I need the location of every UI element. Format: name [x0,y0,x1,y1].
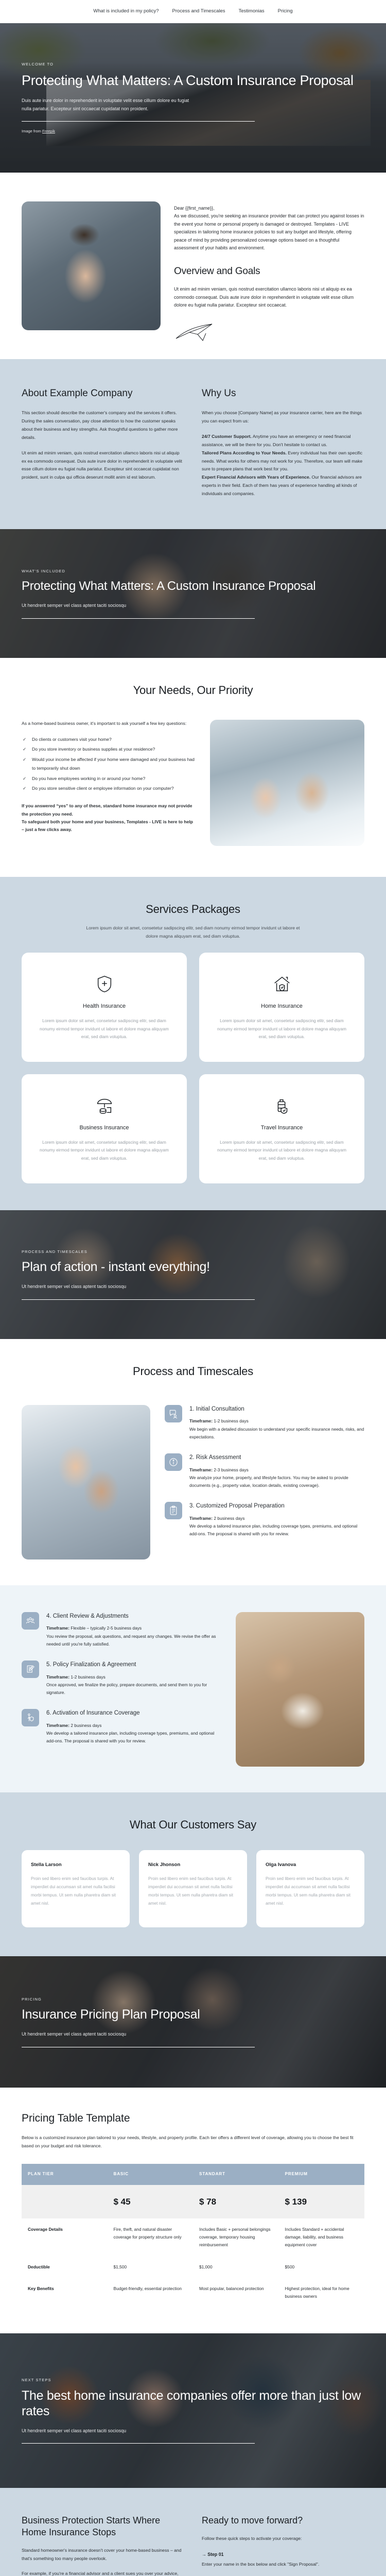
process-step: 3. Customized Proposal Preparation Timef… [165,1502,364,1538]
pricing-table: PLAN TIER BASIC STANDART PREMIUM $ 45 $ … [22,2164,364,2308]
process-step-body: We develop a tailored insurance plan, in… [189,1522,364,1538]
needs-section: Your Needs, Our Priority As a home-based… [0,658,386,877]
credit-prefix: Image from [22,129,42,133]
hero-subtitle: Ut hendrerit semper vel class aptent tac… [22,2427,191,2435]
timeframe-label: Timeframe: [189,1467,213,1472]
clipboard-icon [165,1502,182,1519]
process-step-body: You review the proposal, ask questions, … [46,1633,221,1648]
needs-question-list: Do clients or customers visit your home?… [22,735,195,793]
why-us-intro: When you choose [Company Name] as your i… [202,409,364,426]
hero-banner-next-steps: NEXT STEPS The best home insurance compa… [0,2333,386,2488]
hero-divider [22,2047,255,2047]
process-step-title: 1. Initial Consultation [189,1405,364,1414]
testimonials-section: What Our Customers Say Stella Larson Pro… [0,1792,386,1956]
why-us-point: 24/7 Customer Support. Anytime you have … [202,433,364,449]
why-us-column: Why Us When you choose [Company Name] as… [202,386,364,498]
process-step: 2. Risk Assessment Timeframe: 2-3 busine… [165,1453,364,1489]
timeframe-value: 1-2 business days [213,1418,249,1423]
timeframe-value: 2 business days [213,1516,244,1521]
ready-forward-title: Ready to move forward? [202,2515,364,2527]
hero-subtitle: Ut hendrerit semper vel class aptent tac… [22,2030,191,2039]
table-row: Deductible $1,500 $1,000 $500 [22,2256,364,2278]
testimonial-card: Nick Jhonson Proin sed libero enim sed f… [139,1850,247,1927]
table-row: Key Benefits Budget-friendly, essential … [22,2278,364,2307]
nav-item-process[interactable]: Process and Timescales [172,8,225,15]
process-step: 4. Client Review & Adjustments Timeframe… [22,1612,221,1648]
list-item: Would your income be affected if your ho… [22,755,195,773]
business-protection-p2: For example, if you're a financial advis… [22,2570,184,2576]
next-step-text: Enter your name in the box below and cli… [202,2561,364,2569]
cell: $1,000 [193,2256,279,2278]
hero-banner: WELCOME TO Protecting What Matters: A Cu… [0,23,386,173]
list-item: Do you store sensitive client or employe… [22,784,195,793]
timeframe-label: Timeframe: [189,1418,213,1423]
timeframe-value: Flexible – typically 2-5 business days [69,1625,142,1631]
hero-divider [22,121,255,122]
price-premium: $ 139 [279,2185,365,2219]
process-step-body: We analyze your home, property, and life… [189,1474,364,1489]
why-us-point-head: Tailored Plans According to Your Needs. [202,450,287,455]
cell: $1,500 [108,2256,194,2278]
services-section: Services Packages Lorem ipsum dolor sit … [0,877,386,1210]
hero-title: The best home insurance companies offer … [22,2388,364,2419]
about-company-column: About Example Company This section shoul… [22,386,184,498]
process-step-timeframe: Timeframe: 2 business days [46,1722,221,1730]
needs-title: Your Needs, Our Priority [0,658,386,702]
testimonial-text: Proin sed libero enim sed faucibus turpi… [266,1875,355,1907]
service-card-title: Home Insurance [214,1002,350,1011]
ready-forward-column: Ready to move forward? Follow these quic… [202,2515,364,2576]
ready-forward-intro: Follow these quick steps to activate you… [202,2535,364,2543]
cell: Fire, theft, and natural disaster covera… [108,2218,194,2256]
hero-eyebrow: PRICING [22,1996,364,2003]
process-step-timeframe: Timeframe: 2 business days [189,1515,364,1522]
hero-banner-pricing: PRICING Insurance Pricing Plan Proposal … [0,1956,386,2088]
nav-item-testimonials[interactable]: Testimonias [239,8,265,15]
luggage-shield-icon [214,1092,350,1120]
testimonial-text: Proin sed libero enim sed faucibus turpi… [148,1875,238,1907]
timeframe-value: 2 business days [69,1723,101,1728]
business-protection-p1: Standard homeowner's insurance doesn't c… [22,2547,184,2563]
testimonial-card: Stella Larson Proin sed libero enim sed … [22,1850,130,1927]
process-step-body: We begin with a detailed discussion to u… [189,1426,364,1441]
hero-divider [22,1299,255,1300]
price-standard: $ 78 [193,2185,279,2219]
testimonial-name: Nick Jhonson [148,1861,238,1869]
timeframe-label: Timeframe: [46,1674,69,1680]
letter-section: Dear {{first_name}}, As we discussed, yo… [0,173,386,359]
cell: Includes Standard + accidental damage, l… [279,2218,365,2256]
process-section: Process and Timescales 1. Initial Consul… [0,1339,386,1585]
nav-item-pricing[interactable]: Pricing [278,8,293,15]
nav-item-policy[interactable]: What is included in my policy? [93,8,159,15]
about-section: About Example Company This section shoul… [0,359,386,529]
pricing-table-section: Pricing Table Template Below is a custom… [0,2088,386,2333]
process-step-body: We develop a tailored insurance plan, in… [46,1730,221,1745]
process-step: 5. Policy Finalization & Agreement Timef… [22,1660,221,1697]
hero-subtitle: Ut hendrerit semper vel class aptent tac… [22,1283,191,1291]
needs-note-2: To safeguard both your home and your bus… [22,818,195,834]
why-us-point: Expert Financial Advisors with Years of … [202,473,364,498]
process-photo-2 [236,1612,364,1767]
hero-eyebrow: WELCOME TO [22,61,364,67]
needs-note-1: If you answered “yes” to any of these, s… [22,802,195,818]
process-step-timeframe: Timeframe: Flexible – typically 2-5 busi… [46,1624,221,1632]
hero-eyebrow: NEXT STEPS [22,2377,364,2383]
services-title: Services Packages [0,877,386,921]
umbrella-coins-icon [36,1092,172,1120]
process-step: 6. Activation of Insurance Coverage Time… [22,1709,221,1745]
cell: Highest protection, ideal for home busin… [279,2278,365,2307]
letter-portrait-photo [22,201,161,330]
hero-title: Plan of action - instant everything! [22,1259,364,1275]
hero-eyebrow: PROCESS AND TIMESCALES [22,1249,364,1255]
why-us-point-head: 24/7 Customer Support. [202,434,252,439]
pricing-table-intro: Below is a customized insurance plan tai… [22,2134,364,2150]
price-basic: $ 45 [108,2185,194,2219]
why-us-title: Why Us [202,386,364,401]
service-card[interactable]: Home Insurance Lorem ipsum dolor sit ame… [199,953,364,1062]
about-company-title: About Example Company [22,386,184,401]
hero-eyebrow: WHAT'S INCLUDED [22,568,364,574]
process-step-timeframe: Timeframe: 1-2 business days [46,1673,221,1681]
testimonial-name: Olga Ivanova [266,1861,355,1869]
cell: Most popular, balanced protection [193,2278,279,2307]
table-row-prices: $ 45 $ 78 $ 139 [22,2185,364,2219]
hero-divider [22,618,255,619]
business-protection-column: Business Protection Starts Where Home In… [22,2515,184,2576]
signature-icon [22,1660,39,1678]
col-standard: STANDART [193,2164,279,2185]
hero-banner-process: PROCESS AND TIMESCALES Plan of action - … [0,1210,386,1339]
process-step-title: 4. Client Review & Adjustments [46,1612,221,1621]
about-company-p2: Ut enim ad minim veniam, quis nostrud ex… [22,449,184,482]
credit-link[interactable]: Freepik [42,129,55,133]
process-step-title: 2. Risk Assessment [189,1453,364,1463]
hero-divider [22,2443,255,2444]
list-item: Do you store inventory or business suppl… [22,745,195,754]
service-card-title: Health Insurance [36,1002,172,1011]
timeframe-label: Timeframe: [46,1723,69,1728]
service-card[interactable]: Travel Insurance Lorem ipsum dolor sit a… [199,1074,364,1183]
testimonial-text: Proin sed libero enim sed faucibus turpi… [31,1875,120,1907]
shield-health-icon [36,970,172,998]
business-protection-title: Business Protection Starts Where Home In… [22,2515,184,2539]
hero-subtitle: Ut hendrerit semper vel class aptent tac… [22,602,191,610]
table-header-row: PLAN TIER BASIC STANDART PREMIUM [22,2164,364,2185]
process-section-2: 4. Client Review & Adjustments Timeframe… [0,1585,386,1792]
hero-title: Protecting What Matters: A Custom Insura… [22,579,364,594]
letter-body-text: As we discussed, you're seeking an insur… [174,212,364,252]
service-card-desc: Lorem ipsum dolor sit amet, consetetur s… [214,1139,350,1163]
service-card[interactable]: Business Insurance Lorem ipsum dolor sit… [22,1074,187,1183]
cell: Includes Basic + personal belongings cov… [193,2218,279,2256]
service-card[interactable]: Health Insurance Lorem ipsum dolor sit a… [22,953,187,1062]
timeframe-value: 2-3 business days [213,1467,249,1472]
process-step-title: 3. Customized Proposal Preparation [189,1502,364,1511]
next-step-label: → Step 01 [202,2551,364,2558]
process-photo-1 [22,1405,150,1560]
needs-intro: As a home-based business owner, it's imp… [22,720,195,727]
hero-title: Protecting What Matters: A Custom Insura… [22,72,364,89]
col-plan-tier: PLAN TIER [22,2164,108,2185]
price-row-label [22,2185,108,2219]
house-shield-icon [214,970,350,998]
list-item: Do you have employees working in or arou… [22,774,195,783]
cell: $500 [279,2256,365,2278]
process-step-title: 5. Policy Finalization & Agreement [46,1660,221,1670]
timeframe-label: Timeframe: [46,1625,69,1631]
people-group-icon [22,1612,39,1630]
hero-banner-whats-included: WHAT'S INCLUDED Protecting What Matters:… [0,529,386,658]
consultation-icon [165,1405,182,1422]
service-card-desc: Lorem ipsum dolor sit amet, consetetur s… [214,1017,350,1041]
testimonial-card: Olga Ivanova Proin sed libero enim sed f… [256,1850,364,1927]
list-item: Do clients or customers visit your home? [22,735,195,744]
row-label: Key Benefits [22,2278,108,2307]
process-step: 1. Initial Consultation Timeframe: 1-2 b… [165,1405,364,1441]
why-us-point: Tailored Plans According to Your Needs. … [202,449,364,474]
needs-photo [210,720,364,846]
timeframe-value: 1-2 business days [69,1674,106,1680]
testimonials-title: What Our Customers Say [0,1792,386,1837]
col-basic: BASIC [108,2164,194,2185]
service-card-title: Business Insurance [36,1124,172,1132]
pricing-table-title: Pricing Table Template [22,2110,364,2127]
overview-goals-title: Overview and Goals [174,264,364,279]
col-premium: PREMIUM [279,2164,365,2185]
cell: Budget-friendly, essential protection [108,2278,194,2307]
info-assessment-icon [165,1453,182,1471]
letter-greeting: Dear {{first_name}}, [174,205,364,212]
table-row: Coverage Details Fire, theft, and natura… [22,2218,364,2256]
hero-subtitle: Duis aute irure dolor in reprehenderit i… [22,97,191,113]
row-label: Coverage Details [22,2218,108,2256]
hero-title: Insurance Pricing Plan Proposal [22,2007,364,2022]
services-subtitle: Lorem ipsum dolor sit amet, consetetur s… [82,924,304,940]
person-shield-icon [22,1709,39,1726]
process-step-title: 6. Activation of Insurance Coverage [46,1709,221,1718]
timeframe-label: Timeframe: [189,1516,213,1521]
top-nav: What is included in my policy? Process a… [0,0,386,23]
signature-mark [174,321,236,344]
about-company-p1: This section should describe the custome… [22,409,184,442]
page-root: What is included in my policy? Process a… [0,0,386,2576]
why-us-point-head: Expert Financial Advisors with Years of … [202,474,310,480]
testimonial-name: Stella Larson [31,1861,120,1869]
process-step-body: Once approved, we finalize the policy, p… [46,1681,221,1697]
hero-image-credit: Image from Freepik [22,128,364,134]
process-step-timeframe: Timeframe: 2-3 business days [189,1466,364,1474]
row-label: Deductible [22,2256,108,2278]
next-steps-section: Business Protection Starts Where Home In… [0,2488,386,2576]
overview-goals-text: Ut enim ad minim veniam, quis nostrud ex… [174,285,364,309]
service-card-title: Travel Insurance [214,1124,350,1132]
service-card-desc: Lorem ipsum dolor sit amet, consetetur s… [36,1017,172,1041]
service-card-desc: Lorem ipsum dolor sit amet, consetetur s… [36,1139,172,1163]
process-step-timeframe: Timeframe: 1-2 business days [189,1417,364,1425]
process-title: Process and Timescales [0,1339,386,1383]
